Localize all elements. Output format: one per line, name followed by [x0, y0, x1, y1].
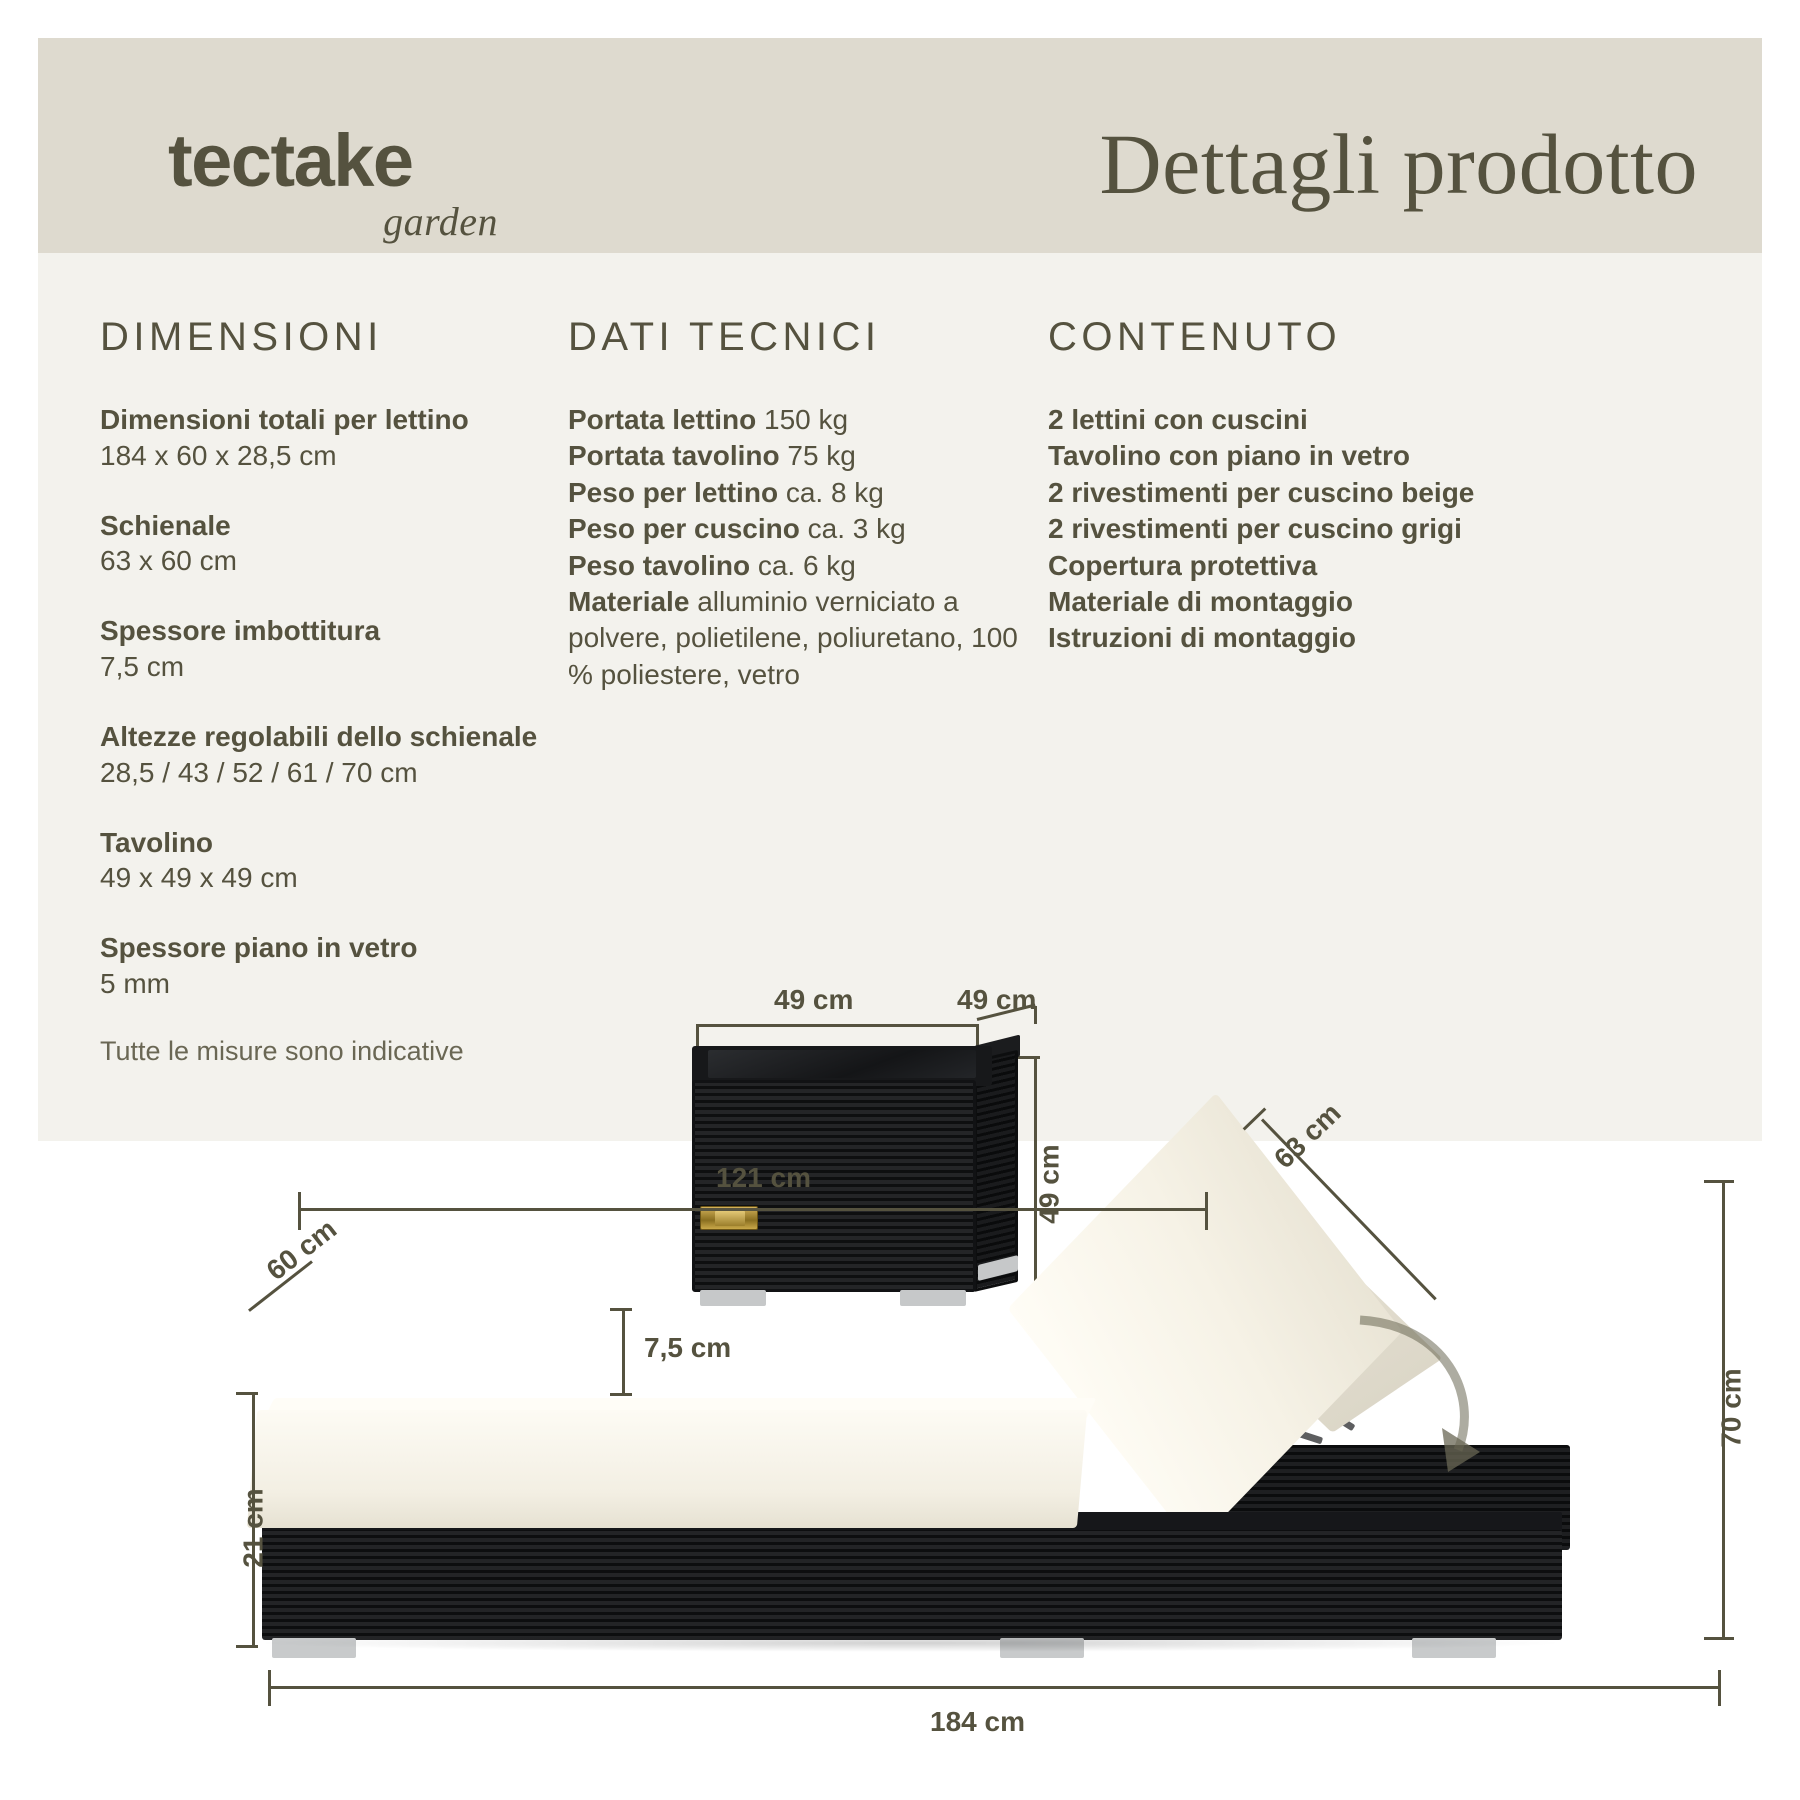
spec-label: Materiale [568, 586, 689, 617]
dimension-block: Schienale 63 x 60 cm [100, 508, 570, 580]
content-item: Materiale di montaggio [1048, 584, 1548, 620]
dimension-value: 28,5 / 43 / 52 / 61 / 70 cm [100, 755, 570, 791]
heading-dimensioni: DIMENSIONI [100, 315, 570, 360]
dimension-block: Spessore imbottitura 7,5 cm [100, 613, 570, 685]
table-depth-label: 49 cm [957, 984, 1036, 1016]
brand-logo: tectake garden [168, 126, 638, 245]
dimension-label: Spessore imbottitura [100, 613, 570, 649]
dimension-block: Altezze regolabili dello schienale 28,5 … [100, 719, 570, 791]
content-item: Istruzioni di montaggio [1048, 620, 1548, 656]
heading-dati-tecnici: DATI TECNICI [568, 315, 1048, 360]
dimension-block: Spessore piano in vetro 5 mm [100, 930, 570, 1002]
spec-value: 150 kg [764, 404, 848, 435]
total-length-tick-right [1718, 1670, 1721, 1706]
dimension-value: 49 x 49 x 49 cm [100, 860, 570, 896]
seat-length-tick-right [1205, 1192, 1208, 1230]
column-contenuto: CONTENUTO 2 lettini con cuscini Tavolino… [1048, 315, 1548, 657]
measures-note: Tutte le misure sono indicative [100, 1036, 570, 1067]
specs-panel: DIMENSIONI Dimensioni totali per lettino… [38, 253, 1762, 1141]
dimension-label: Schienale [100, 508, 570, 544]
spec-row: Peso tavolino ca. 6 kg [568, 548, 1048, 584]
content-item: 2 rivestimenti per cuscino grigi [1048, 511, 1548, 547]
spec-label: Peso per lettino [568, 477, 778, 508]
figure-lettino: 121 cm 60 cm 7,5 cm 63 cm 70 cm 21 cm 18… [0, 1140, 1800, 1800]
dimension-value: 7,5 cm [100, 649, 570, 685]
lounger-shadow [250, 1634, 1570, 1652]
logo-subbrand: garden [168, 198, 498, 245]
total-length-label: 184 cm [930, 1706, 1025, 1738]
content-item: Tavolino con piano in vetro [1048, 438, 1548, 474]
seat-width-label: 60 cm [261, 1213, 343, 1287]
heading-contenuto: CONTENUTO [1048, 315, 1548, 360]
frame-height-tick-bottom [236, 1645, 258, 1648]
dimension-block: Tavolino 49 x 49 x 49 cm [100, 825, 570, 897]
table-height-tick-top [1018, 1056, 1040, 1059]
dimension-label: Tavolino [100, 825, 570, 861]
logo-wordmark: tectake [168, 126, 638, 196]
spec-row: Portata lettino 150 kg [568, 402, 1048, 438]
column-dimensioni: DIMENSIONI Dimensioni totali per lettino… [100, 315, 570, 1067]
lounger-rattan-base [262, 1530, 1562, 1640]
table-width-label: 49 cm [774, 984, 853, 1016]
spec-row: Portata tavolino 75 kg [568, 438, 1048, 474]
cushion-thickness-label: 7,5 cm [644, 1332, 731, 1364]
dimension-block: Dimensioni totali per lettino 184 x 60 x… [100, 402, 570, 474]
cushion-thickness-line [622, 1308, 625, 1396]
back-height-label: 70 cm [1716, 1368, 1748, 1447]
spec-value: ca. 3 kg [808, 513, 906, 544]
spec-label: Portata tavolino [568, 440, 780, 471]
spec-row: Peso per lettino ca. 8 kg [568, 475, 1048, 511]
table-width-line [696, 1024, 979, 1027]
content-item: 2 rivestimenti per cuscino beige [1048, 475, 1548, 511]
table-glass-top [708, 1050, 976, 1078]
spec-value: ca. 6 kg [758, 550, 856, 581]
dimension-label: Dimensioni totali per lettino [100, 402, 570, 438]
frame-height-tick-top [236, 1392, 258, 1395]
dimension-label: Spessore piano in vetro [100, 930, 570, 966]
table-width-tick-left [696, 1024, 699, 1046]
dimension-value: 184 x 60 x 28,5 cm [100, 438, 570, 474]
seat-length-tick-left [298, 1192, 301, 1230]
total-length-line [268, 1686, 1720, 1689]
dimension-value: 5 mm [100, 966, 570, 1002]
recline-arrow-icon [1350, 1300, 1550, 1490]
back-height-tick-bottom [1704, 1637, 1734, 1640]
spec-value: ca. 8 kg [786, 477, 884, 508]
spec-label: Peso tavolino [568, 550, 750, 581]
seat-length-label: 121 cm [716, 1162, 811, 1194]
cushion-thickness-tick-bottom [610, 1393, 632, 1396]
spec-label: Peso per cuscino [568, 513, 800, 544]
seat-length-line [298, 1208, 1208, 1211]
content-item: 2 lettini con cuscini [1048, 402, 1548, 438]
spec-label: Portata lettino [568, 404, 756, 435]
cushion-thickness-tick-top [610, 1308, 632, 1311]
spec-row-material: Materiale alluminio verniciato a polvere… [568, 584, 1048, 693]
spec-value: 75 kg [787, 440, 856, 471]
content-item: Copertura protettiva [1048, 548, 1548, 584]
back-height-tick-top [1704, 1180, 1734, 1183]
dimension-value: 63 x 60 cm [100, 543, 570, 579]
product-details-page: tectake garden Dettagli prodotto DIMENSI… [0, 0, 1800, 1800]
dimension-label: Altezze regolabili dello schienale [100, 719, 570, 755]
lounger-seat-cushion [247, 1410, 1087, 1528]
header-band: tectake garden Dettagli prodotto [38, 38, 1762, 253]
page-title: Dettagli prodotto [1100, 114, 1698, 214]
column-dati-tecnici: DATI TECNICI Portata lettino 150 kg Port… [568, 315, 1048, 693]
total-length-tick-left [268, 1670, 271, 1706]
spec-row: Peso per cuscino ca. 3 kg [568, 511, 1048, 547]
frame-height-label: 21 cm [238, 1488, 270, 1567]
table-width-tick-right [976, 1024, 979, 1046]
